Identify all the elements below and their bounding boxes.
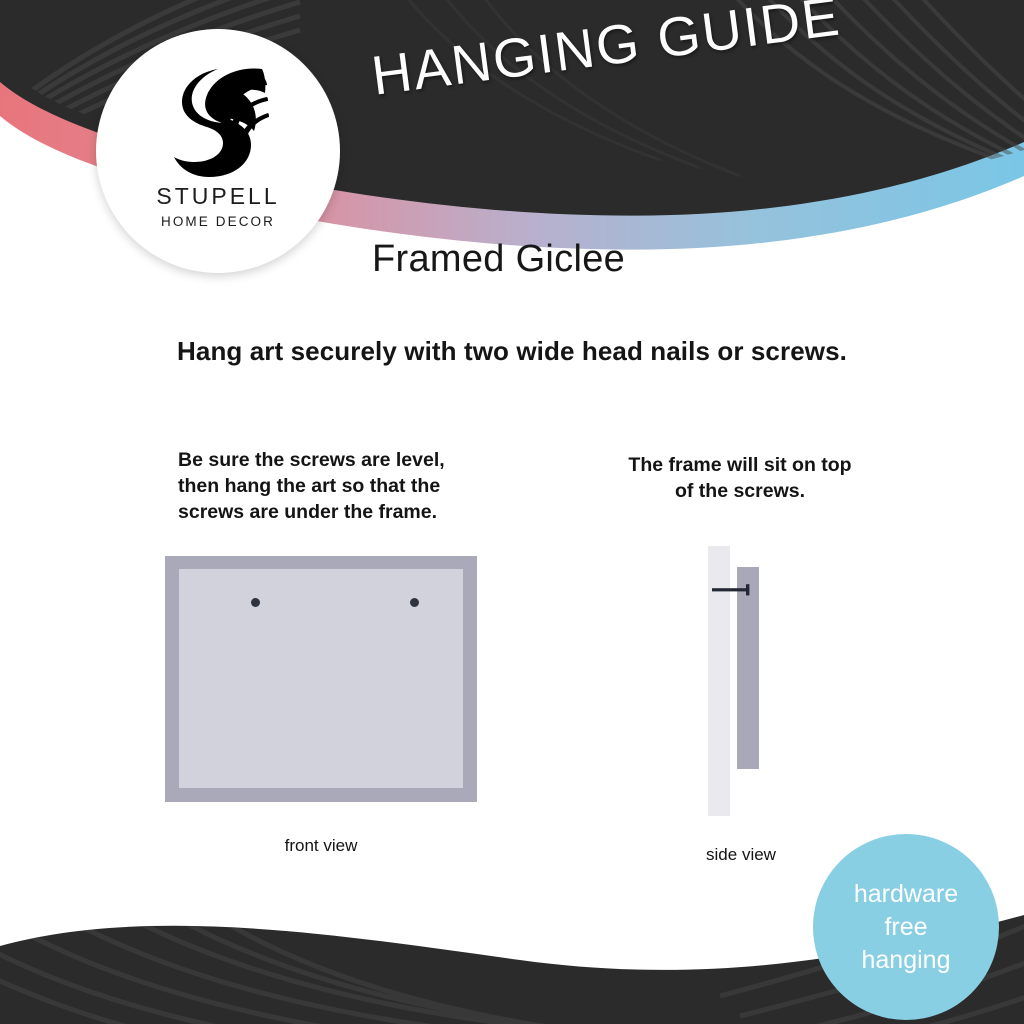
badge-line: hanging (862, 944, 951, 977)
screw-dot-left-icon (251, 598, 260, 607)
front-view-caption: Be sure the screws are level, then hang … (178, 447, 478, 525)
hanging-guide-page: STUPELL HOME DECOR HANGING GUIDE Framed … (0, 0, 1024, 1024)
screw-dot-right-icon (410, 598, 419, 607)
brand-subtitle: HOME DECOR (161, 215, 275, 229)
page-title: HANGING GUIDE (368, 0, 892, 108)
side-view-label: side view (661, 845, 821, 865)
brand-logo-badge: STUPELL HOME DECOR (96, 29, 340, 273)
caption-line: of the screws. (596, 478, 884, 504)
front-view-diagram (165, 556, 477, 802)
stupell-swoosh-icon (166, 61, 270, 179)
caption-line: The frame will sit on top (596, 452, 884, 478)
caption-line: screws are under the frame. (178, 499, 478, 525)
caption-line: then hang the art so that the (178, 473, 478, 499)
side-view-frame (737, 567, 759, 769)
caption-line: Be sure the screws are level, (178, 447, 478, 473)
side-view-caption: The frame will sit on top of the screws. (596, 452, 884, 504)
badge-line: hardware (854, 878, 958, 911)
side-view-diagram (708, 546, 774, 816)
front-view-label: front view (181, 836, 461, 856)
front-view-mat (179, 569, 463, 788)
badge-line: free (884, 911, 927, 944)
main-instruction-text: Hang art securely with two wide head nai… (0, 336, 1024, 367)
hardware-free-hanging-badge: hardware free hanging (813, 834, 999, 1020)
brand-name: STUPELL (156, 185, 279, 208)
product-type-label: Framed Giclee (372, 238, 625, 281)
nail-icon (712, 583, 755, 597)
